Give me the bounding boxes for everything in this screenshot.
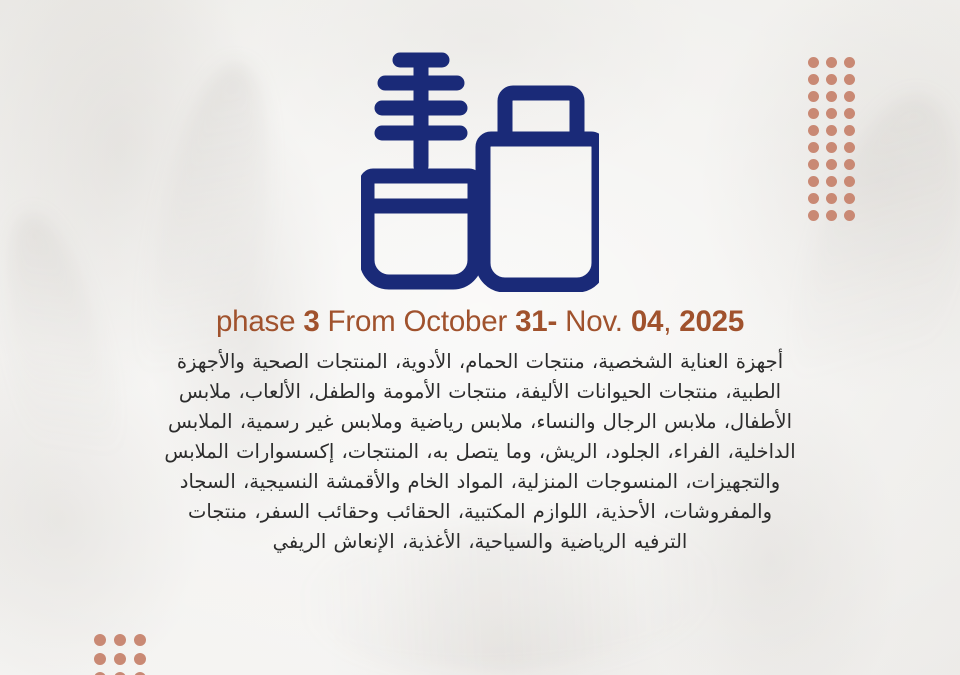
decorative-dot <box>134 653 146 665</box>
body-line: والمفروشات، الأحذية، اللوازم المكتبية، ا… <box>30 497 930 527</box>
headline-seg-comma: , <box>663 305 679 338</box>
poster-canvas: phase 3 From October 31- Nov. 04, 2025 أ… <box>0 0 960 675</box>
body-line: والتجهيزات، المنسوجات المنزلية، المواد ا… <box>30 467 930 497</box>
wand-container <box>367 176 475 282</box>
bottle-body <box>483 139 599 285</box>
logo <box>0 48 960 292</box>
headline-seg-end-day: 04 <box>631 305 663 338</box>
headline-seg-number: 3 <box>303 305 319 338</box>
decorative-dot <box>94 653 106 665</box>
headline-seg-month: Nov. <box>557 305 631 338</box>
decorative-dot <box>134 634 146 646</box>
body-line: أجهزة العناية الشخصية، منتجات الحمام، ال… <box>30 347 930 377</box>
headline: phase 3 From October 31- Nov. 04, 2025 <box>0 307 960 337</box>
body-line: الأطفال، ملابس الرجال والنساء، ملابس ريا… <box>30 407 930 437</box>
headline-seg-start-day: 31- <box>515 305 557 338</box>
dot-grid-bottom-left <box>94 634 146 675</box>
decorative-dot <box>114 634 126 646</box>
mascara-wand-and-cosmetic-bottle-icon <box>361 48 599 292</box>
headline-seg-year: 2025 <box>679 305 744 338</box>
decorative-dot <box>114 653 126 665</box>
body-line: الترفيه الرياضية والسياحية، الأغذية، الإ… <box>30 527 930 557</box>
category-list-text: أجهزة العناية الشخصية، منتجات الحمام، ال… <box>30 347 930 557</box>
headline-seg-phase: phase <box>216 305 303 338</box>
body-line: الداخلية، الفراء، الجلود، الريش، وما يتص… <box>30 437 930 467</box>
decorative-dot <box>94 634 106 646</box>
headline-seg-from: From October <box>320 305 516 338</box>
body-line: الطبية، منتجات الحيوانات الأليفة، منتجات… <box>30 377 930 407</box>
